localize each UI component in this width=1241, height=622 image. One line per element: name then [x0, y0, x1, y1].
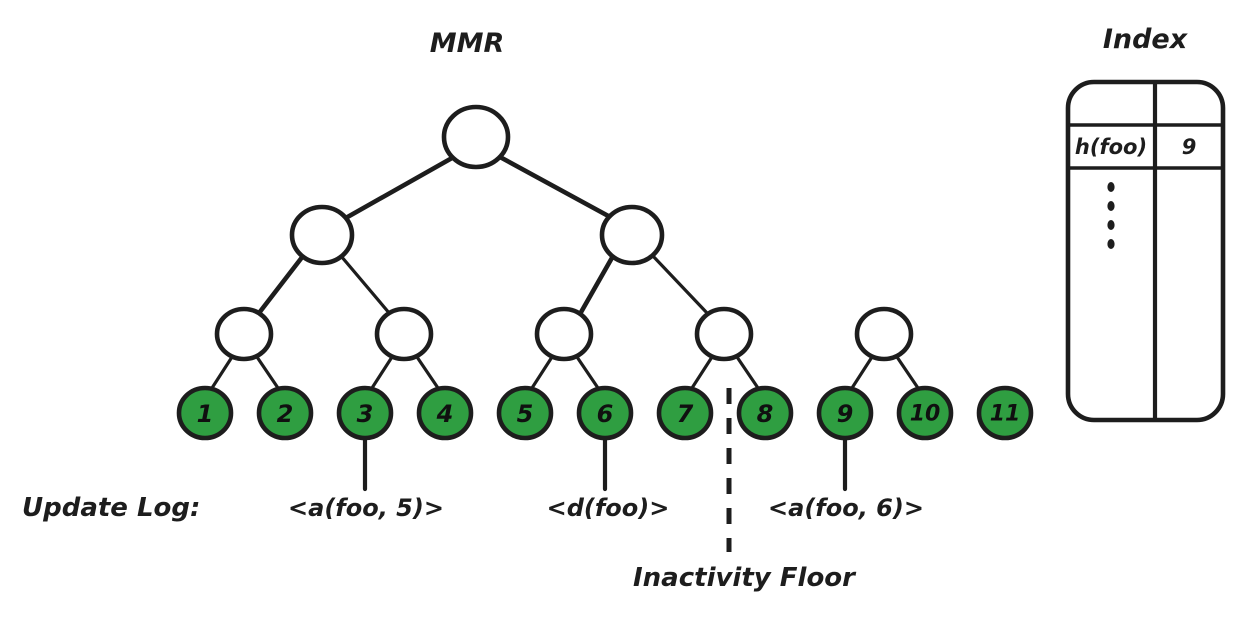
leaf-node-7[interactable]: 7: [659, 388, 711, 438]
edge-p56-leaf6: [577, 357, 598, 388]
node-left-2[interactable]: [292, 207, 352, 263]
edge-p56-leaf5: [532, 357, 552, 388]
edge-p910-leaf9: [852, 357, 872, 388]
edge-p12-leaf1: [212, 357, 232, 388]
leaf-label-2: 2: [277, 400, 294, 428]
update-log-ticks: [365, 438, 845, 489]
leaf-label-6: 6: [597, 400, 614, 428]
edge-l2left-p34: [341, 256, 390, 314]
edge-p12-leaf2: [257, 357, 278, 388]
node-p12[interactable]: [217, 309, 271, 359]
node-p78[interactable]: [697, 309, 751, 359]
leaf-nodes: 1 2 3 4 5 6 7: [179, 388, 1031, 438]
leaf-node-9[interactable]: 9: [819, 388, 871, 438]
leaf-node-1[interactable]: 1: [179, 388, 231, 438]
node-right-2[interactable]: [602, 207, 662, 263]
leaf-label-8: 8: [757, 400, 774, 428]
index-cell-key-hfoo: h(foo): [1075, 135, 1147, 159]
index-title: Index: [1103, 24, 1189, 55]
node-p34[interactable]: [377, 309, 431, 359]
index-cell-value-9: 9: [1182, 135, 1197, 159]
edge-p78-leaf7: [692, 357, 712, 388]
mmr-diagram: MMR Index: [0, 0, 1241, 622]
log-entry-a-foo-6: <a(foo, 6)>: [768, 494, 924, 522]
leaf-label-5: 5: [517, 400, 534, 428]
edge-root-right: [500, 157, 612, 218]
internal-nodes: [217, 107, 911, 359]
leaf-node-5[interactable]: 5: [499, 388, 551, 438]
edge-l2right-p56: [580, 256, 613, 314]
node-p56[interactable]: [537, 309, 591, 359]
leaf-label-7: 7: [677, 400, 694, 428]
leaf-node-6[interactable]: 6: [579, 388, 631, 438]
inactivity-floor-label: Inactivity Floor: [633, 563, 857, 593]
node-p910[interactable]: [857, 309, 911, 359]
log-entry-d-foo: <d(foo)>: [547, 494, 670, 522]
edge-l2right-p78: [652, 255, 708, 314]
edge-p34-leaf3: [372, 357, 392, 388]
leaf-label-11: 11: [990, 402, 1021, 427]
leaf-label-3: 3: [357, 400, 374, 428]
leaf-label-9: 9: [837, 400, 854, 428]
edge-p78-leaf8: [737, 357, 758, 388]
leaf-label-10: 10: [910, 402, 941, 427]
leaf-node-4[interactable]: 4: [419, 388, 471, 438]
leaf-label-1: 1: [197, 400, 214, 428]
mmr-title: MMR: [430, 28, 505, 59]
edge-p34-leaf4: [417, 357, 438, 388]
leaf-node-11[interactable]: 11: [979, 388, 1031, 438]
leaf-node-10[interactable]: 10: [899, 388, 951, 438]
index-table-outline: [1068, 82, 1223, 420]
leaf-node-3[interactable]: 3: [339, 388, 391, 438]
update-log-label: Update Log:: [22, 493, 200, 523]
leaf-node-8[interactable]: 8: [739, 388, 791, 438]
log-entry-a-foo-5: <a(foo, 5)>: [288, 494, 444, 522]
edge-l2left-p12: [259, 256, 303, 313]
node-root[interactable]: [444, 107, 508, 167]
edge-p910-leaf10: [897, 357, 918, 388]
leaf-node-2[interactable]: 2: [259, 388, 311, 438]
leaf-label-4: 4: [436, 400, 454, 428]
edge-root-left: [344, 158, 452, 219]
diagram-canvas: MMR Index: [0, 0, 1241, 622]
index-table[interactable]: h(foo) 9: [1068, 82, 1223, 420]
